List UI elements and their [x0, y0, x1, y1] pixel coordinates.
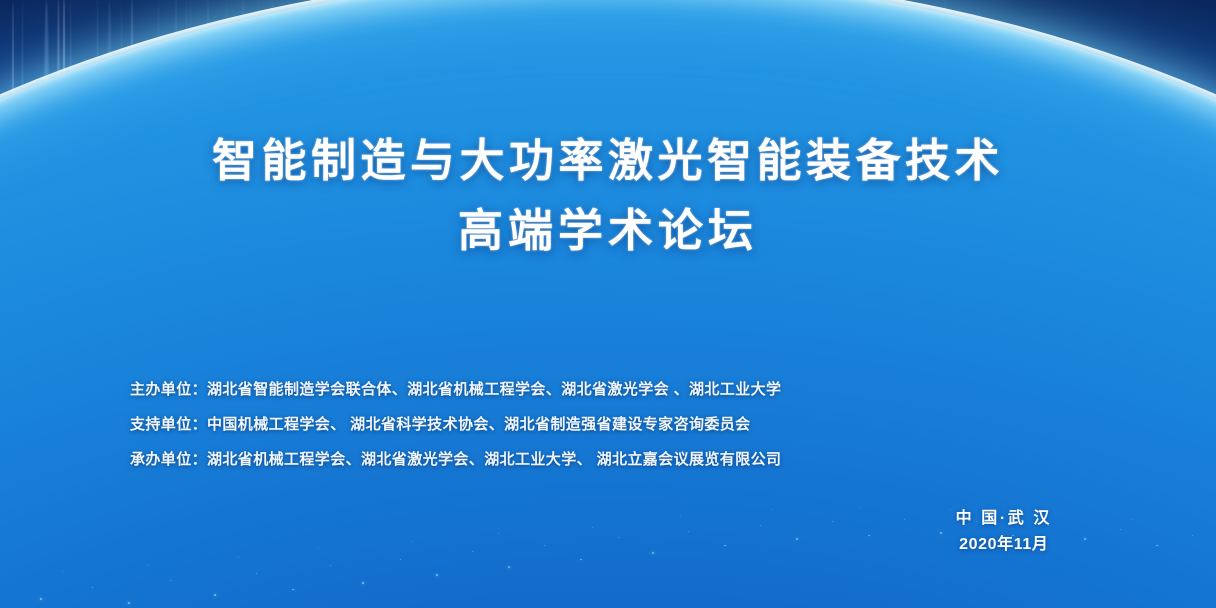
- conference-banner: 智能制造与大功率激光智能装备技术 高端学术论坛 主办单位：湖北省智能制造学会联合…: [0, 0, 1216, 608]
- title-block: 智能制造与大功率激光智能装备技术 高端学术论坛: [0, 126, 1216, 266]
- venue-date: 2020年11月: [956, 532, 1052, 558]
- organizer-line-support: 支持单位：中国机械工程学会、 湖北省科学技术协会、湖北省制造强省建设专家咨询委员…: [130, 407, 781, 442]
- organizer-line-undertaker: 承办单位：湖北省机械工程学会、湖北省激光学会、湖北工业大学、 湖北立嘉会议展览有…: [130, 442, 781, 477]
- banner-content: 智能制造与大功率激光智能装备技术 高端学术论坛 主办单位：湖北省智能制造学会联合…: [0, 0, 1216, 608]
- organizer-line-host: 主办单位：湖北省智能制造学会联合体、湖北省机械工程学会、湖北省激光学会 、湖北工…: [130, 372, 781, 407]
- title-line-1: 智能制造与大功率激光智能装备技术: [0, 126, 1216, 196]
- venue-location: 中 国·武 汉: [956, 506, 1052, 532]
- organizers-block: 主办单位：湖北省智能制造学会联合体、湖北省机械工程学会、湖北省激光学会 、湖北工…: [130, 372, 781, 477]
- title-line-2: 高端学术论坛: [0, 196, 1216, 266]
- venue-block: 中 国·武 汉 2020年11月: [956, 506, 1052, 558]
